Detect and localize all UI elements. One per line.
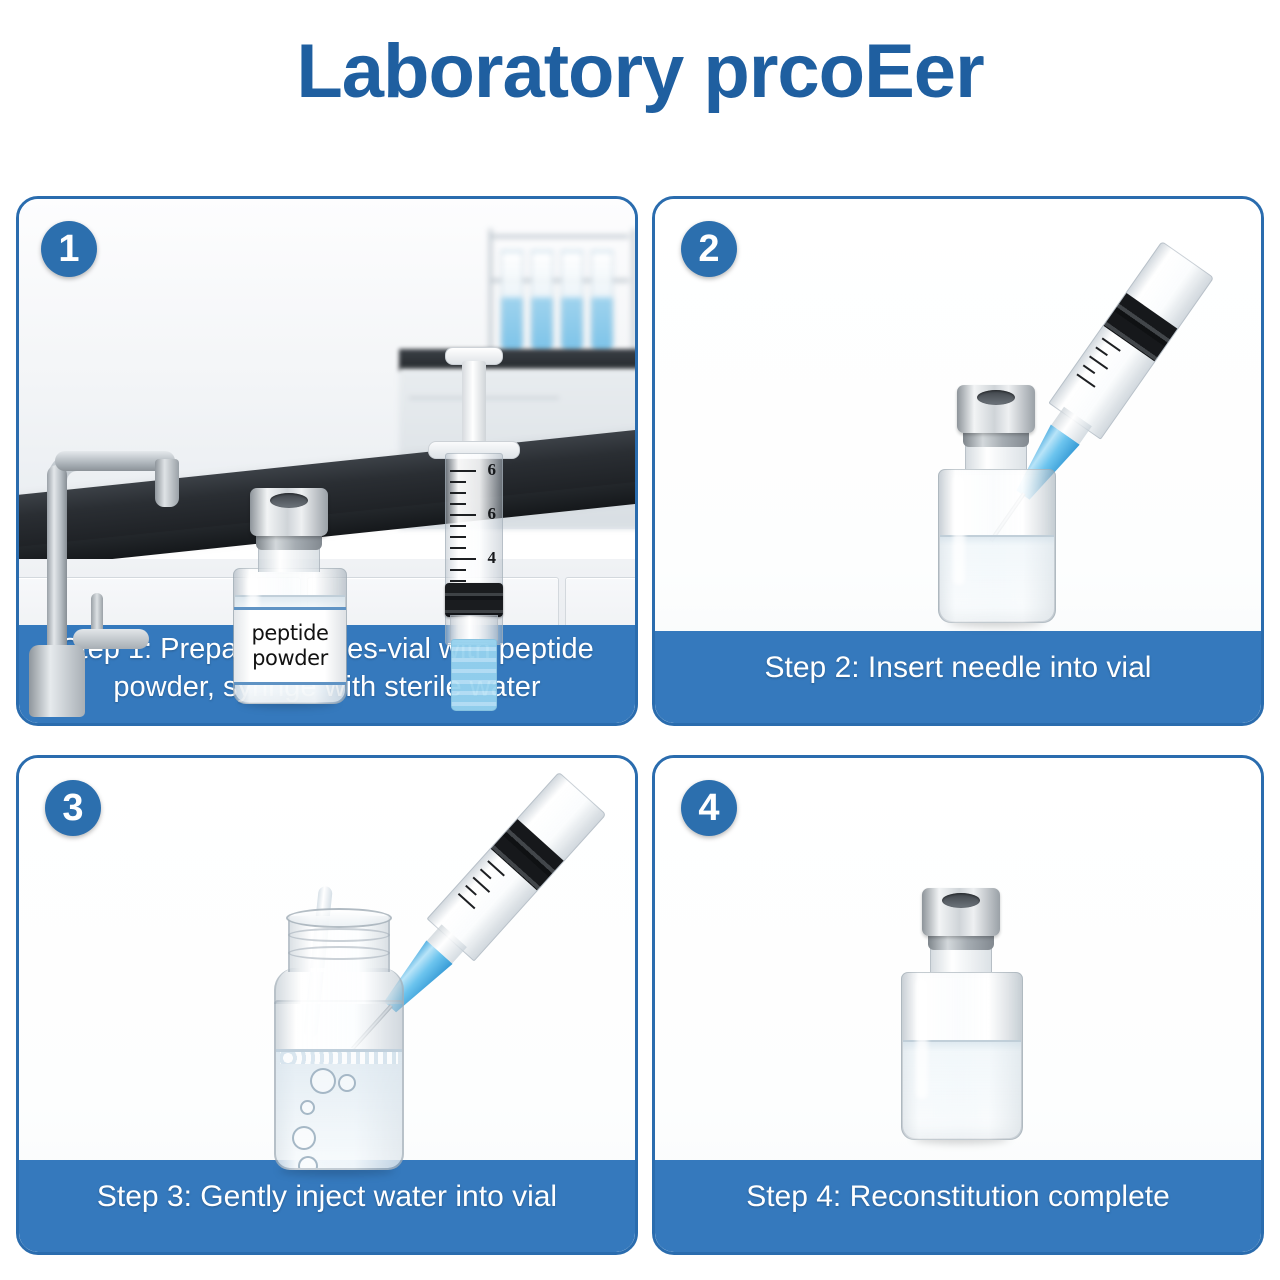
reconstituted-vial [901,888,1021,1138]
syringe-scale-number: 6 [488,504,497,524]
faucet-icon [29,429,209,719]
syringe-graduation-ticks [450,860,507,919]
step-number-badge: 2 [681,221,737,277]
sealed-vial [938,385,1054,621]
syringe-scale-number: 4 [488,548,497,568]
page-title: Laboratory prcoEer [0,34,1280,110]
vial-label: peptide powder [233,607,347,685]
step-panel-4[interactable]: 4 Step 4: Reconstitution complete [652,755,1264,1255]
test-tube-rack-icon [489,229,629,357]
step-panel-3[interactable]: 3 Step 3: Gently inject water into vial [16,755,638,1255]
vial-liquid [276,1049,402,1168]
step-number-badge: 4 [681,780,737,836]
blue-sterile-water [451,639,497,711]
step-caption: Step 2: Insert needle into vial [655,631,1261,723]
syringe-graduation-ticks [1070,337,1123,398]
step-number-badge: 3 [45,780,101,836]
vial-label-line-1: peptide [251,621,328,646]
step-caption: Step 4: Reconstitution complete [655,1160,1261,1252]
step-number-badge: 1 [41,221,97,277]
syringe-sterile-water: 6 6 4 1 [425,347,523,707]
vial-label-line-2: powder [252,646,328,671]
infographic-page: Laboratory prcoEer [0,0,1280,1280]
peptide-powder-vial: peptide powder [233,488,345,702]
syringe-scale-number: 6 [488,460,497,480]
open-vial [272,908,402,1168]
step-panel-2[interactable]: 2 Step 2: Insert needle into vial [652,196,1264,726]
step-panel-1[interactable]: peptide powder [16,196,638,726]
syringe-graduation-ticks [450,470,476,600]
